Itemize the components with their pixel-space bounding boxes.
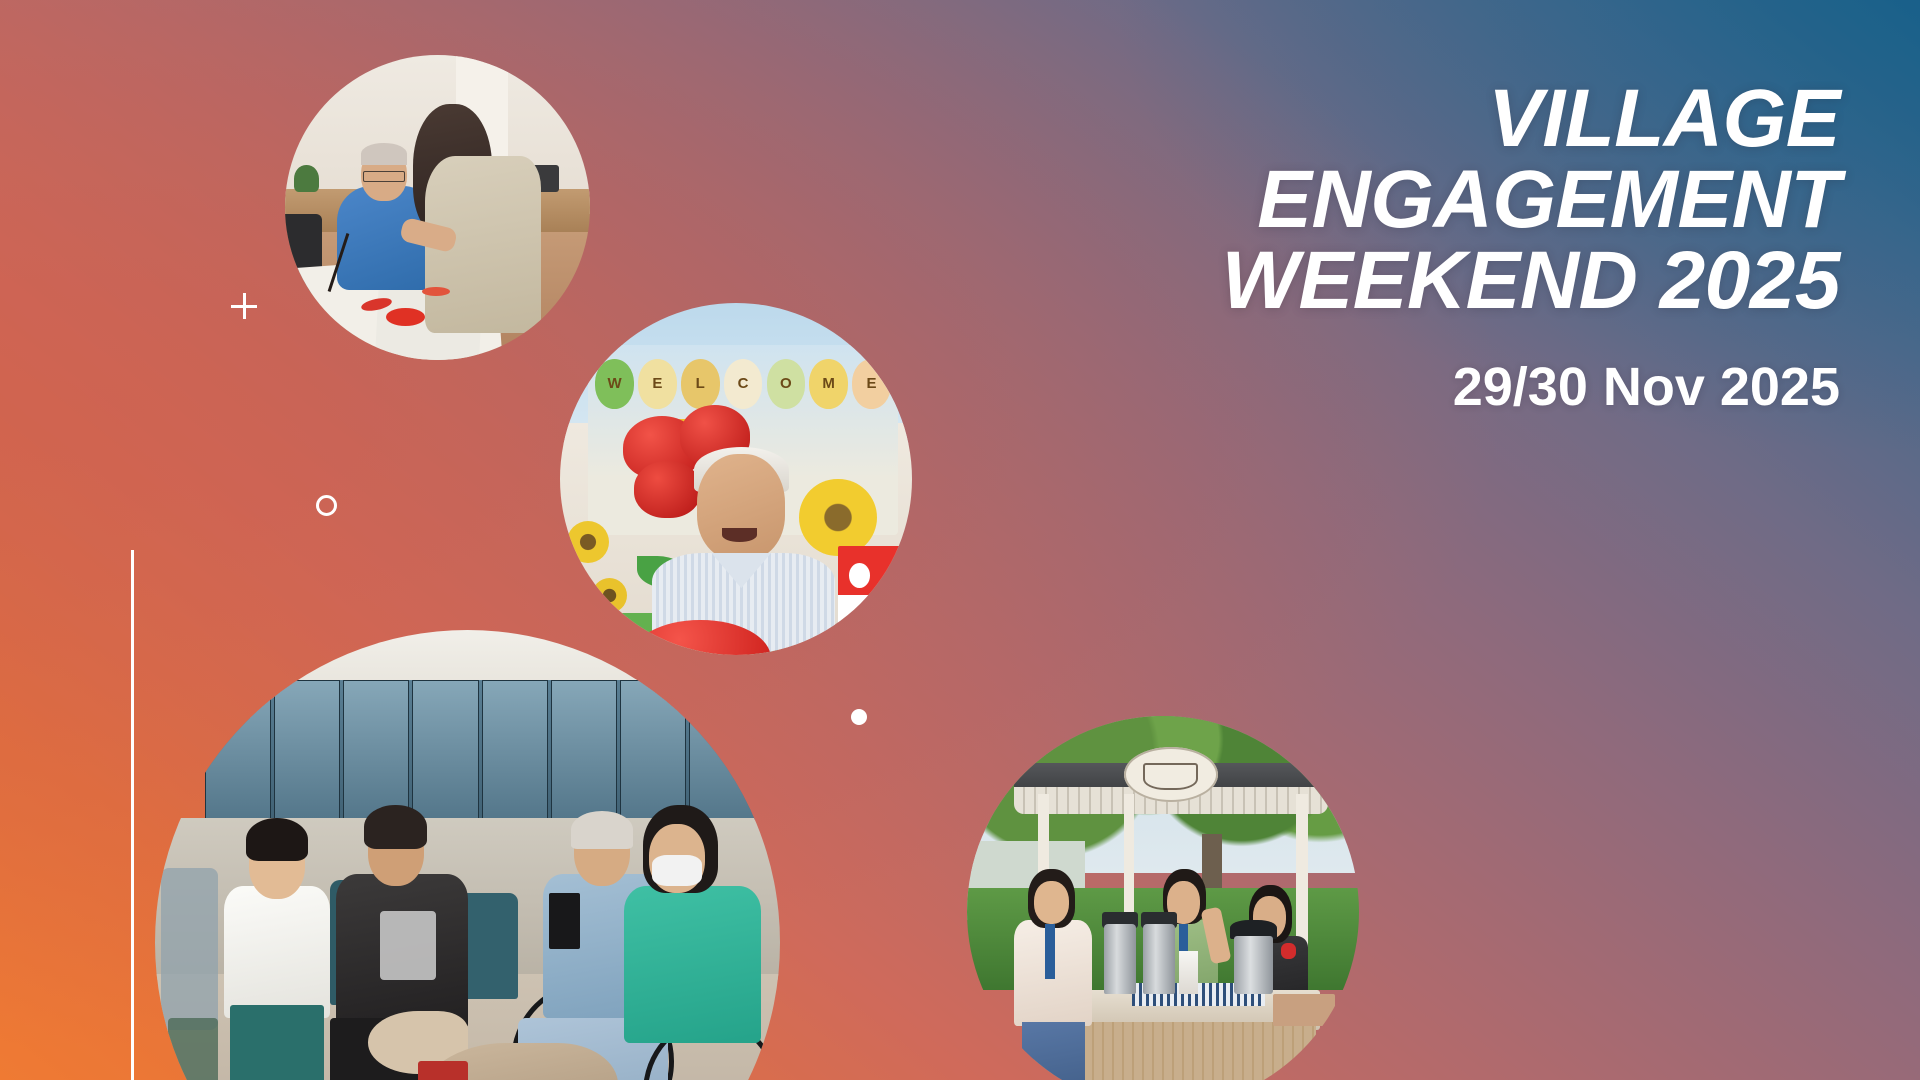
photo-therapy-dogs xyxy=(155,630,780,1080)
event-date: 29/30 Nov 2025 xyxy=(1100,360,1840,414)
photo-welcome: W E L C O M E xyxy=(560,303,912,655)
headline-line-1: VILLAGE xyxy=(1100,78,1840,159)
circle-outline-icon xyxy=(316,495,337,516)
welcome-letter: W xyxy=(595,359,634,408)
welcome-letters: W E L C O M E xyxy=(595,359,891,408)
welcome-letter: E xyxy=(638,359,677,408)
welcome-letter: C xyxy=(724,359,763,408)
event-headline: VILLAGE ENGAGEMENT WEEKEND 2025 xyxy=(1100,78,1840,322)
welcome-letter: M xyxy=(809,359,848,408)
photo-beverage-cart xyxy=(967,716,1359,1080)
banner-text-block: VILLAGE ENGAGEMENT WEEKEND 2025 29/30 No… xyxy=(1100,78,1840,414)
welcome-letter: E xyxy=(852,359,891,408)
circle-dot-icon xyxy=(851,709,867,725)
vertical-rule-divider xyxy=(131,550,134,1080)
event-banner: W E L C O M E xyxy=(0,0,1920,1080)
welcome-letter: O xyxy=(767,359,806,408)
photo-painting xyxy=(285,55,590,360)
headline-line-2: ENGAGEMENT xyxy=(1100,159,1840,240)
welcome-letter: L xyxy=(681,359,720,408)
headline-line-3: WEEKEND 2025 xyxy=(1100,240,1840,321)
plus-icon xyxy=(231,293,257,319)
